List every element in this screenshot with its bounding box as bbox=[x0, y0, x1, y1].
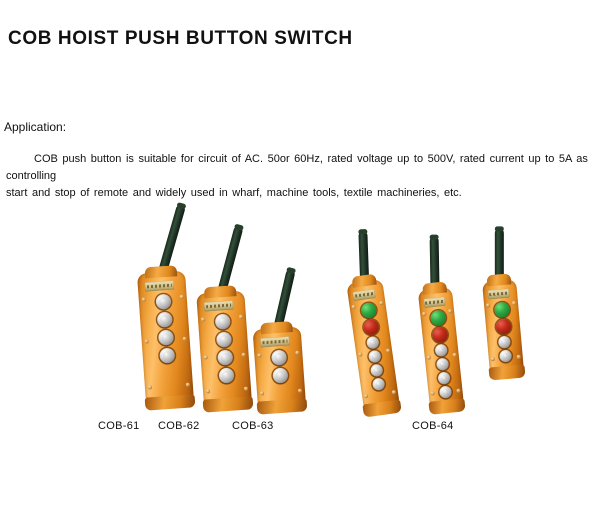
cable-neck bbox=[423, 281, 447, 294]
housing bbox=[253, 327, 306, 408]
screw-icon bbox=[244, 387, 248, 391]
product-unit-cob-64-c bbox=[482, 279, 524, 374]
push-button-red[interactable] bbox=[495, 319, 511, 335]
screw-icon bbox=[186, 383, 190, 387]
application-paragraph-line-1: COB push button is suitable for circuit … bbox=[6, 151, 611, 185]
screw-icon bbox=[260, 391, 264, 395]
push-button[interactable] bbox=[435, 344, 448, 357]
push-button[interactable] bbox=[437, 372, 450, 385]
cable-neck bbox=[203, 285, 236, 298]
nameplate bbox=[204, 300, 234, 311]
push-button-red[interactable] bbox=[431, 327, 447, 343]
bottom-cap bbox=[428, 398, 465, 415]
housing bbox=[418, 287, 464, 408]
push-button[interactable] bbox=[498, 336, 511, 349]
housing bbox=[482, 279, 524, 374]
push-button[interactable] bbox=[157, 330, 173, 346]
push-button[interactable] bbox=[372, 377, 386, 391]
product-caption-cob-64: COB-64 bbox=[412, 420, 454, 432]
button-column bbox=[484, 301, 523, 364]
product-unit-cob-64-a bbox=[346, 279, 399, 411]
application-heading: Application: bbox=[4, 120, 66, 134]
product-caption-cob-62: COB-62 bbox=[158, 420, 200, 432]
product-unit-cob-61 bbox=[137, 271, 194, 404]
nameplate bbox=[423, 297, 445, 308]
push-button-red[interactable] bbox=[362, 319, 379, 336]
push-button[interactable] bbox=[499, 350, 512, 363]
push-button[interactable] bbox=[368, 350, 382, 364]
button-column bbox=[198, 313, 251, 385]
nameplate bbox=[353, 289, 376, 301]
screw-icon bbox=[364, 394, 369, 399]
cable-neck bbox=[487, 273, 511, 286]
product-unit-cob-64-b bbox=[418, 287, 464, 408]
screw-icon bbox=[206, 389, 210, 393]
button-column bbox=[254, 348, 304, 384]
push-button[interactable] bbox=[370, 364, 384, 378]
bottom-cap bbox=[362, 399, 402, 417]
push-button[interactable] bbox=[218, 368, 234, 384]
housing bbox=[137, 271, 194, 404]
push-button[interactable] bbox=[271, 350, 287, 366]
screw-icon bbox=[148, 385, 152, 389]
button-column bbox=[349, 301, 397, 393]
nameplate bbox=[144, 280, 174, 291]
push-button[interactable] bbox=[215, 332, 231, 348]
product-unit-cob-62 bbox=[196, 291, 252, 406]
cable-neck bbox=[260, 321, 293, 334]
push-button-green[interactable] bbox=[493, 302, 509, 318]
button-column bbox=[139, 293, 192, 365]
housing bbox=[196, 291, 252, 406]
page-title: COB HOIST PUSH BUTTON SWITCH bbox=[8, 28, 353, 50]
push-button[interactable] bbox=[214, 314, 230, 330]
bottom-cap bbox=[144, 394, 196, 411]
nameplate bbox=[260, 336, 290, 347]
push-button[interactable] bbox=[272, 368, 288, 384]
push-button-green[interactable] bbox=[360, 302, 377, 319]
product-caption-cob-63: COB-63 bbox=[232, 420, 274, 432]
bottom-cap bbox=[256, 398, 308, 415]
button-column bbox=[420, 309, 463, 400]
bottom-cap bbox=[489, 364, 526, 380]
nameplate bbox=[488, 289, 510, 300]
push-button-green[interactable] bbox=[430, 310, 446, 326]
push-button[interactable] bbox=[217, 350, 233, 366]
application-paragraph: COB push button is suitable for circuit … bbox=[6, 151, 611, 202]
push-button[interactable] bbox=[159, 348, 175, 364]
product-unit-cob-63 bbox=[253, 327, 306, 408]
product-gallery bbox=[0, 200, 615, 440]
push-button[interactable] bbox=[156, 312, 172, 328]
push-button[interactable] bbox=[436, 358, 449, 371]
push-button[interactable] bbox=[155, 294, 171, 310]
bottom-cap bbox=[202, 396, 254, 413]
push-button[interactable] bbox=[439, 385, 452, 398]
push-button[interactable] bbox=[366, 336, 380, 350]
cable-neck bbox=[351, 274, 377, 288]
cable-neck bbox=[144, 265, 177, 278]
screw-icon bbox=[298, 389, 302, 393]
screw-icon bbox=[392, 390, 397, 395]
product-caption-cob-61: COB-61 bbox=[98, 420, 140, 432]
housing bbox=[346, 279, 399, 411]
